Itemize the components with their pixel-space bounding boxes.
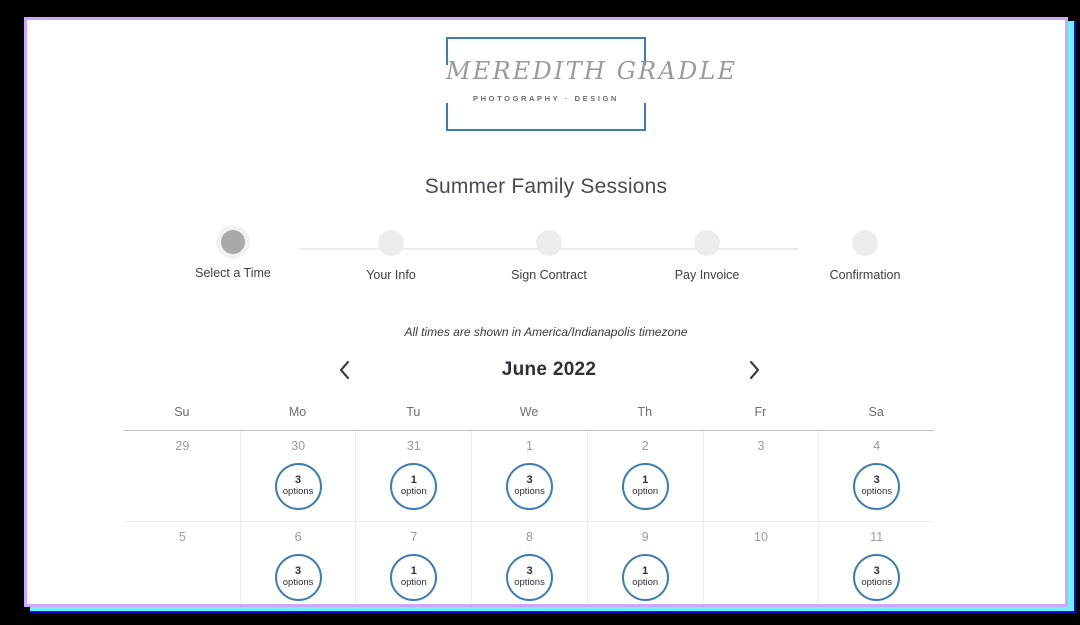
calendar-header-su: Su — [124, 395, 240, 430]
day-options-badge[interactable]: 1option — [622, 554, 669, 601]
stepper-step-confirmation[interactable]: Confirmation — [799, 225, 931, 282]
chevron-left-icon — [338, 360, 351, 380]
options-word: options — [283, 577, 314, 588]
calendar-day-number: 4 — [873, 440, 880, 453]
timezone-note: All times are shown in America/Indianapo… — [27, 325, 1065, 339]
options-word: options — [861, 577, 892, 588]
calendar-day-number: 3 — [757, 440, 764, 453]
options-count: 3 — [874, 475, 880, 487]
booking-page: MEREDITH GRADLE PHOTOGRAPHY · DESIGN Sum… — [27, 20, 1065, 604]
chevron-right-icon — [748, 360, 761, 380]
step-label: Your Info — [325, 268, 457, 282]
calendar-header-tu: Tu — [355, 395, 471, 430]
step-dot-icon — [852, 230, 878, 256]
calendar-day-cell[interactable]: 113options — [818, 522, 934, 604]
options-word: option — [401, 486, 427, 497]
options-count: 1 — [411, 566, 417, 578]
day-options-badge[interactable]: 3options — [275, 554, 322, 601]
logo-corner-bottom-left — [446, 103, 480, 131]
page-title: Summer Family Sessions — [27, 175, 1065, 199]
step-label: Select a Time — [167, 266, 299, 280]
options-word: options — [514, 486, 545, 497]
logo-bracket-frame: MEREDITH GRADLE PHOTOGRAPHY · DESIGN — [446, 37, 646, 131]
day-options-badge[interactable]: 1option — [390, 554, 437, 601]
options-count: 3 — [526, 566, 532, 578]
logo-corner-bottom-right — [612, 103, 646, 131]
options-count: 1 — [642, 566, 648, 578]
calendar-day-cell: 3 — [703, 431, 819, 521]
day-options-badge[interactable]: 1option — [390, 463, 437, 510]
calendar-day-number: 31 — [407, 440, 421, 453]
day-options-badge[interactable]: 3options — [853, 463, 900, 510]
options-count: 1 — [411, 475, 417, 487]
options-word: options — [283, 486, 314, 497]
month-label: June 2022 — [502, 359, 597, 381]
stepper-step-sign-contract[interactable]: Sign Contract — [483, 225, 615, 282]
calendar-day-number: 8 — [526, 531, 533, 544]
calendar-day-cell[interactable]: 303options — [240, 431, 356, 521]
screenshot-root: MEREDITH GRADLE PHOTOGRAPHY · DESIGN Sum… — [0, 0, 1080, 625]
calendar-day-cell[interactable]: 13options — [471, 431, 587, 521]
calendar-body: 29303options311option13options21option34… — [124, 431, 934, 604]
options-count: 3 — [526, 475, 532, 487]
logo-name: MEREDITH GRADLE — [446, 57, 646, 85]
day-options-badge[interactable]: 3options — [853, 554, 900, 601]
step-dot-icon — [221, 230, 245, 254]
calendar-day-number: 5 — [179, 531, 186, 544]
calendar-day-cell[interactable]: 43options — [818, 431, 934, 521]
calendar-day-cell[interactable]: 83options — [471, 522, 587, 604]
calendar-day-number: 30 — [291, 440, 305, 453]
calendar-day-number: 6 — [295, 531, 302, 544]
calendar-day-number: 10 — [754, 531, 768, 544]
day-options-badge[interactable]: 3options — [275, 463, 322, 510]
calendar-day-cell: 29 — [124, 431, 240, 521]
options-word: option — [401, 577, 427, 588]
calendar-day-number: 7 — [410, 531, 417, 544]
options-word: options — [514, 577, 545, 588]
next-month-button[interactable] — [737, 353, 771, 387]
calendar-day-number: 9 — [642, 531, 649, 544]
options-count: 3 — [295, 566, 301, 578]
calendar-header-th: Th — [587, 395, 703, 430]
logo-top-rule — [480, 37, 612, 39]
step-dot-icon — [378, 230, 404, 256]
prev-month-button[interactable] — [327, 353, 361, 387]
options-count: 1 — [642, 475, 648, 487]
calendar-day-number: 1 — [526, 440, 533, 453]
window-frame: MEREDITH GRADLE PHOTOGRAPHY · DESIGN Sum… — [24, 17, 1068, 607]
calendar-week-row: 563options71option83options91option10113… — [124, 522, 934, 604]
step-label: Pay Invoice — [641, 268, 773, 282]
logo-subtitle: PHOTOGRAPHY · DESIGN — [446, 94, 646, 103]
calendar-header-we: We — [471, 395, 587, 430]
options-count: 3 — [295, 475, 301, 487]
logo-bottom-rule — [480, 129, 612, 131]
calendar-day-number: 29 — [175, 440, 189, 453]
calendar-day-cell[interactable]: 91option — [587, 522, 703, 604]
availability-calendar: SuMoTuWeThFrSa 29303options311option13op… — [124, 395, 934, 604]
options-word: options — [861, 486, 892, 497]
stepper-step-your-info[interactable]: Your Info — [325, 225, 457, 282]
stepper-step-select-a-time[interactable]: Select a Time — [167, 225, 299, 280]
calendar-day-cell[interactable]: 71option — [355, 522, 471, 604]
calendar-day-number: 2 — [642, 440, 649, 453]
calendar-day-headers: SuMoTuWeThFrSa — [124, 395, 934, 431]
brand-logo: MEREDITH GRADLE PHOTOGRAPHY · DESIGN — [27, 37, 1065, 131]
day-options-badge[interactable]: 1option — [622, 463, 669, 510]
options-count: 3 — [874, 566, 880, 578]
calendar-day-cell: 5 — [124, 522, 240, 604]
calendar-day-number: 11 — [870, 531, 883, 544]
booking-stepper: Select a TimeYour InfoSign ContractPay I… — [233, 225, 865, 287]
calendar-week-row: 29303options311option13options21option34… — [124, 431, 934, 522]
options-word: option — [632, 486, 658, 497]
step-label: Sign Contract — [483, 268, 615, 282]
day-options-badge[interactable]: 3options — [506, 463, 553, 510]
options-word: option — [632, 577, 658, 588]
step-label: Confirmation — [799, 268, 931, 282]
calendar-header-fr: Fr — [703, 395, 819, 430]
step-dot-icon — [694, 230, 720, 256]
calendar-day-cell[interactable]: 21option — [587, 431, 703, 521]
calendar-header-sa: Sa — [818, 395, 934, 430]
step-dot-icon — [536, 230, 562, 256]
calendar-day-cell[interactable]: 63options — [240, 522, 356, 604]
calendar-day-cell: 10 — [703, 522, 819, 604]
calendar-header-mo: Mo — [240, 395, 356, 430]
calendar-day-cell[interactable]: 311option — [355, 431, 471, 521]
month-navigation: June 2022 — [327, 350, 771, 390]
stepper-step-pay-invoice[interactable]: Pay Invoice — [641, 225, 773, 282]
day-options-badge[interactable]: 3options — [506, 554, 553, 601]
